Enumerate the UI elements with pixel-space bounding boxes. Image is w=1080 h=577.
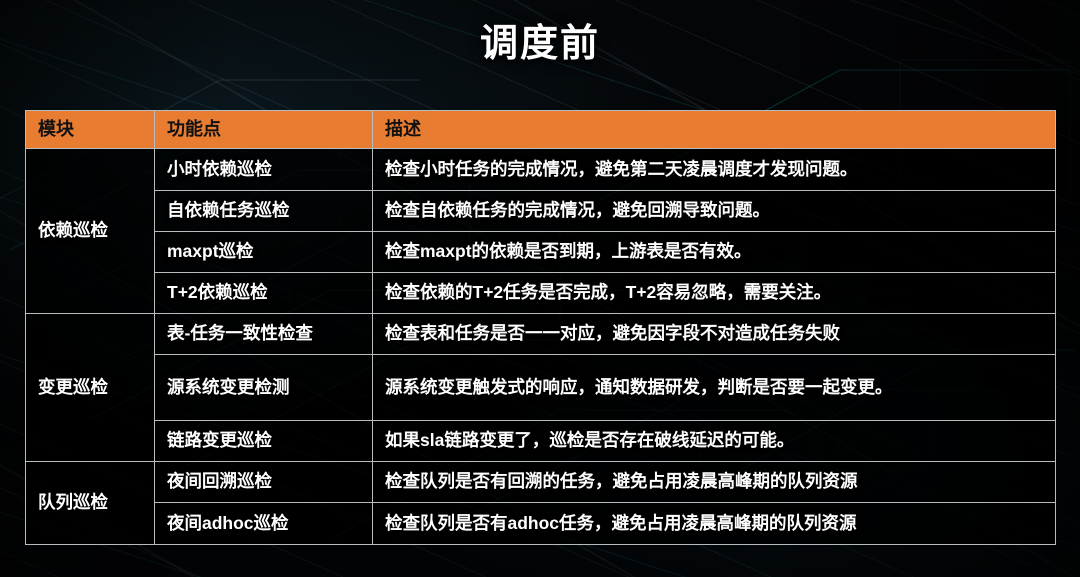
feature-cell: 小时依赖巡检 (155, 149, 373, 191)
description-cell: 检查队列是否有adhoc任务，避免占用凌晨高峰期的队列资源 (373, 503, 1056, 545)
inspection-matrix-table: 模块 功能点 描述 依赖巡检 小时依赖巡检 检查小时任务的完成情况，避免第二天凌… (25, 110, 1055, 545)
slide-canvas: 调度前 模块 功能点 描述 依赖巡检 小时依赖巡检 检查小时任务的完成情况，避免… (0, 0, 1080, 577)
description-cell: 检查自依赖任务的完成情况，避免回溯导致问题。 (373, 191, 1056, 232)
table-row: maxpt巡检 检查maxpt的依赖是否到期，上游表是否有效。 (26, 232, 1056, 273)
feature-cell: 自依赖任务巡检 (155, 191, 373, 232)
column-header-description: 描述 (373, 111, 1056, 149)
page-title: 调度前 (0, 18, 1080, 70)
column-header-feature: 功能点 (155, 111, 373, 149)
table-row: T+2依赖巡检 检查依赖的T+2任务是否完成，T+2容易忽略，需要关注。 (26, 273, 1056, 314)
module-cell: 依赖巡检 (26, 149, 155, 314)
feature-cell: maxpt巡检 (155, 232, 373, 273)
table-row: 队列巡检 夜间回溯巡检 检查队列是否有回溯的任务，避免占用凌晨高峰期的队列资源 (26, 462, 1056, 503)
module-cell: 队列巡检 (26, 462, 155, 545)
description-cell: 检查表和任务是否一一对应，避免因字段不对造成任务失败 (373, 314, 1056, 355)
feature-cell: 夜间adhoc巡检 (155, 503, 373, 545)
table-row: 依赖巡检 小时依赖巡检 检查小时任务的完成情况，避免第二天凌晨调度才发现问题。 (26, 149, 1056, 191)
module-cell: 变更巡检 (26, 314, 155, 462)
description-cell: 检查队列是否有回溯的任务，避免占用凌晨高峰期的队列资源 (373, 462, 1056, 503)
feature-cell: 夜间回溯巡检 (155, 462, 373, 503)
description-cell: 源系统变更触发式的响应，通知数据研发，判断是否要一起变更。 (373, 355, 1056, 421)
description-cell: 如果sla链路变更了，巡检是否存在破线延迟的可能。 (373, 421, 1056, 462)
table-row: 变更巡检 表-任务一致性检查 检查表和任务是否一一对应，避免因字段不对造成任务失… (26, 314, 1056, 355)
description-cell: 检查maxpt的依赖是否到期，上游表是否有效。 (373, 232, 1056, 273)
feature-cell: 链路变更巡检 (155, 421, 373, 462)
table-row: 夜间adhoc巡检 检查队列是否有adhoc任务，避免占用凌晨高峰期的队列资源 (26, 503, 1056, 545)
column-header-module: 模块 (26, 111, 155, 149)
description-cell: 检查依赖的T+2任务是否完成，T+2容易忽略，需要关注。 (373, 273, 1056, 314)
feature-cell: 源系统变更检测 (155, 355, 373, 421)
feature-cell: T+2依赖巡检 (155, 273, 373, 314)
table-row: 源系统变更检测 源系统变更触发式的响应，通知数据研发，判断是否要一起变更。 (26, 355, 1056, 421)
description-cell: 检查小时任务的完成情况，避免第二天凌晨调度才发现问题。 (373, 149, 1056, 191)
table-header-row: 模块 功能点 描述 (26, 111, 1056, 149)
feature-cell: 表-任务一致性检查 (155, 314, 373, 355)
table-row: 自依赖任务巡检 检查自依赖任务的完成情况，避免回溯导致问题。 (26, 191, 1056, 232)
table-row: 链路变更巡检 如果sla链路变更了，巡检是否存在破线延迟的可能。 (26, 421, 1056, 462)
